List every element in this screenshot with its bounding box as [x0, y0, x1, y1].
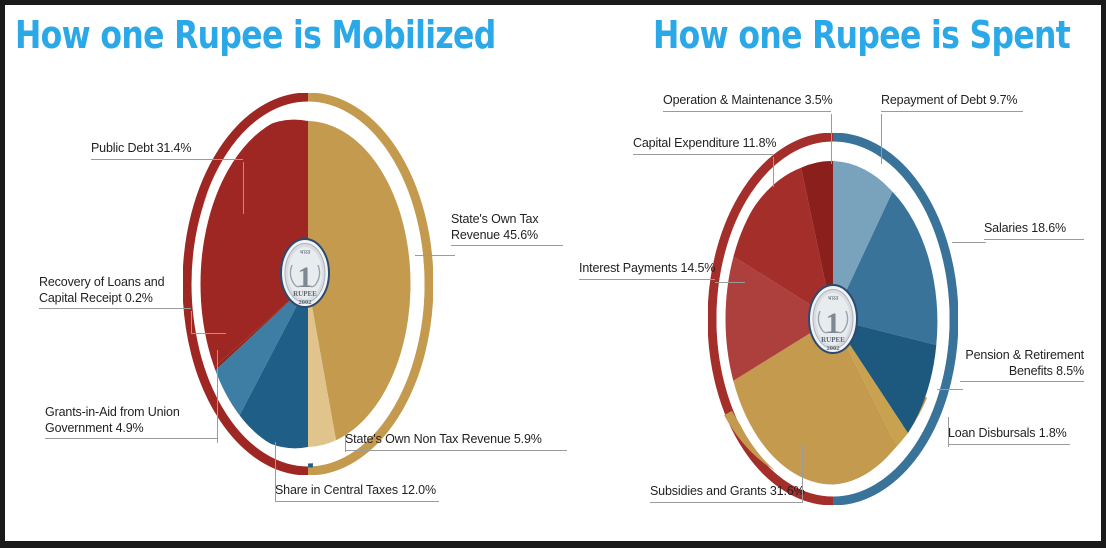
callout-grants-line1: Grants-in-Aid from Union [45, 405, 217, 421]
callout-salaries-label: Salaries 18.6% [984, 221, 1084, 237]
leader-grants [217, 350, 218, 443]
rupee-coin-right: भारत 1 RUPEE 2002 [807, 283, 859, 355]
page-title-mobilized: How one Rupee is Mobilized [15, 13, 496, 57]
callout-own-tax-line2: Revenue 45.6% [451, 228, 563, 244]
callout-recovery-of-loans: Recovery of Loans and Capital Receipt 0.… [39, 275, 191, 309]
infographic-frame: How one Rupee is Mobilized [5, 5, 1101, 541]
leader-loan [948, 417, 949, 447]
leader-capex [773, 157, 774, 187]
callout-public-debt: Public Debt 31.4% [91, 141, 243, 160]
callout-grants-in-aid: Grants-in-Aid from Union Government 4.9% [45, 405, 217, 439]
callout-grants-line2: Government 4.9% [45, 421, 217, 437]
leader-repayment [881, 114, 882, 164]
leader-non-tax [345, 425, 346, 452]
callout-states-own-tax: State's Own Tax Revenue 45.6% [451, 212, 563, 246]
coin-word: RUPEE [293, 290, 317, 298]
callout-loan-label: Loan Disbursals 1.8% [948, 426, 1070, 442]
leader-pension [937, 389, 963, 390]
leader-recovery-v [191, 311, 192, 333]
coin-year-right: 2002 [827, 345, 840, 352]
callout-repayment-label: Repayment of Debt 9.7% [881, 93, 1023, 109]
callout-share-central-taxes: Share in Central Taxes 12.0% [275, 483, 439, 502]
leader-public-debt [243, 162, 244, 214]
coin-year: 2002 [299, 299, 312, 306]
callout-non-tax-revenue: State's Own Non Tax Revenue 5.9% [345, 432, 567, 451]
callout-salaries: Salaries 18.6% [984, 221, 1084, 240]
leader-subsidies [802, 445, 803, 503]
leader-recovery-h [191, 333, 226, 334]
callout-pension-line1: Pension & Retirement [960, 348, 1084, 364]
callout-own-tax-line1: State's Own Tax [451, 212, 563, 228]
callout-central-taxes-label: Share in Central Taxes 12.0% [275, 483, 439, 499]
callout-interest-label: Interest Payments 14.5% [579, 261, 715, 277]
coin-script: भारत [300, 250, 312, 256]
callout-capital-expenditure: Capital Expenditure 11.8% [633, 136, 773, 155]
panel-mobilized: How one Rupee is Mobilized [5, 5, 565, 541]
callout-repayment-of-debt: Repayment of Debt 9.7% [881, 93, 1023, 112]
leader-salaries [952, 242, 986, 243]
callout-loan-disbursals: Loan Disbursals 1.8% [948, 426, 1070, 445]
callout-pension-retirement: Pension & Retirement Benefits 8.5% [960, 348, 1084, 382]
callout-interest-payments: Interest Payments 14.5% [579, 261, 715, 280]
callout-non-tax-label: State's Own Non Tax Revenue 5.9% [345, 432, 567, 448]
callout-recovery-line2: Capital Receipt 0.2% [39, 291, 191, 307]
panel-spent: How one Rupee is Spent [565, 5, 1101, 541]
callout-capex-label: Capital Expenditure 11.8% [633, 136, 773, 152]
coin-word-right: RUPEE [821, 336, 845, 344]
leader-central-taxes [275, 442, 276, 502]
callout-om-label: Operation & Maintenance 3.5% [663, 93, 831, 109]
callout-subsidies-label: Subsidies and Grants 31.6% [650, 484, 802, 500]
callout-subsidies-grants: Subsidies and Grants 31.6% [650, 484, 802, 503]
callout-public-debt-label: Public Debt 31.4% [91, 141, 243, 157]
callout-pension-line2: Benefits 8.5% [960, 364, 1084, 380]
coin-script-right: भारत [828, 296, 840, 302]
page-title-spent: How one Rupee is Spent [653, 13, 1070, 57]
leader-own-tax [415, 255, 455, 256]
callout-recovery-line1: Recovery of Loans and [39, 275, 191, 291]
rupee-coin-left: भारत 1 RUPEE 2002 [279, 237, 331, 309]
callout-operation-maintenance: Operation & Maintenance 3.5% [663, 93, 831, 112]
leader-om [831, 114, 832, 164]
leader-interest [715, 282, 745, 283]
